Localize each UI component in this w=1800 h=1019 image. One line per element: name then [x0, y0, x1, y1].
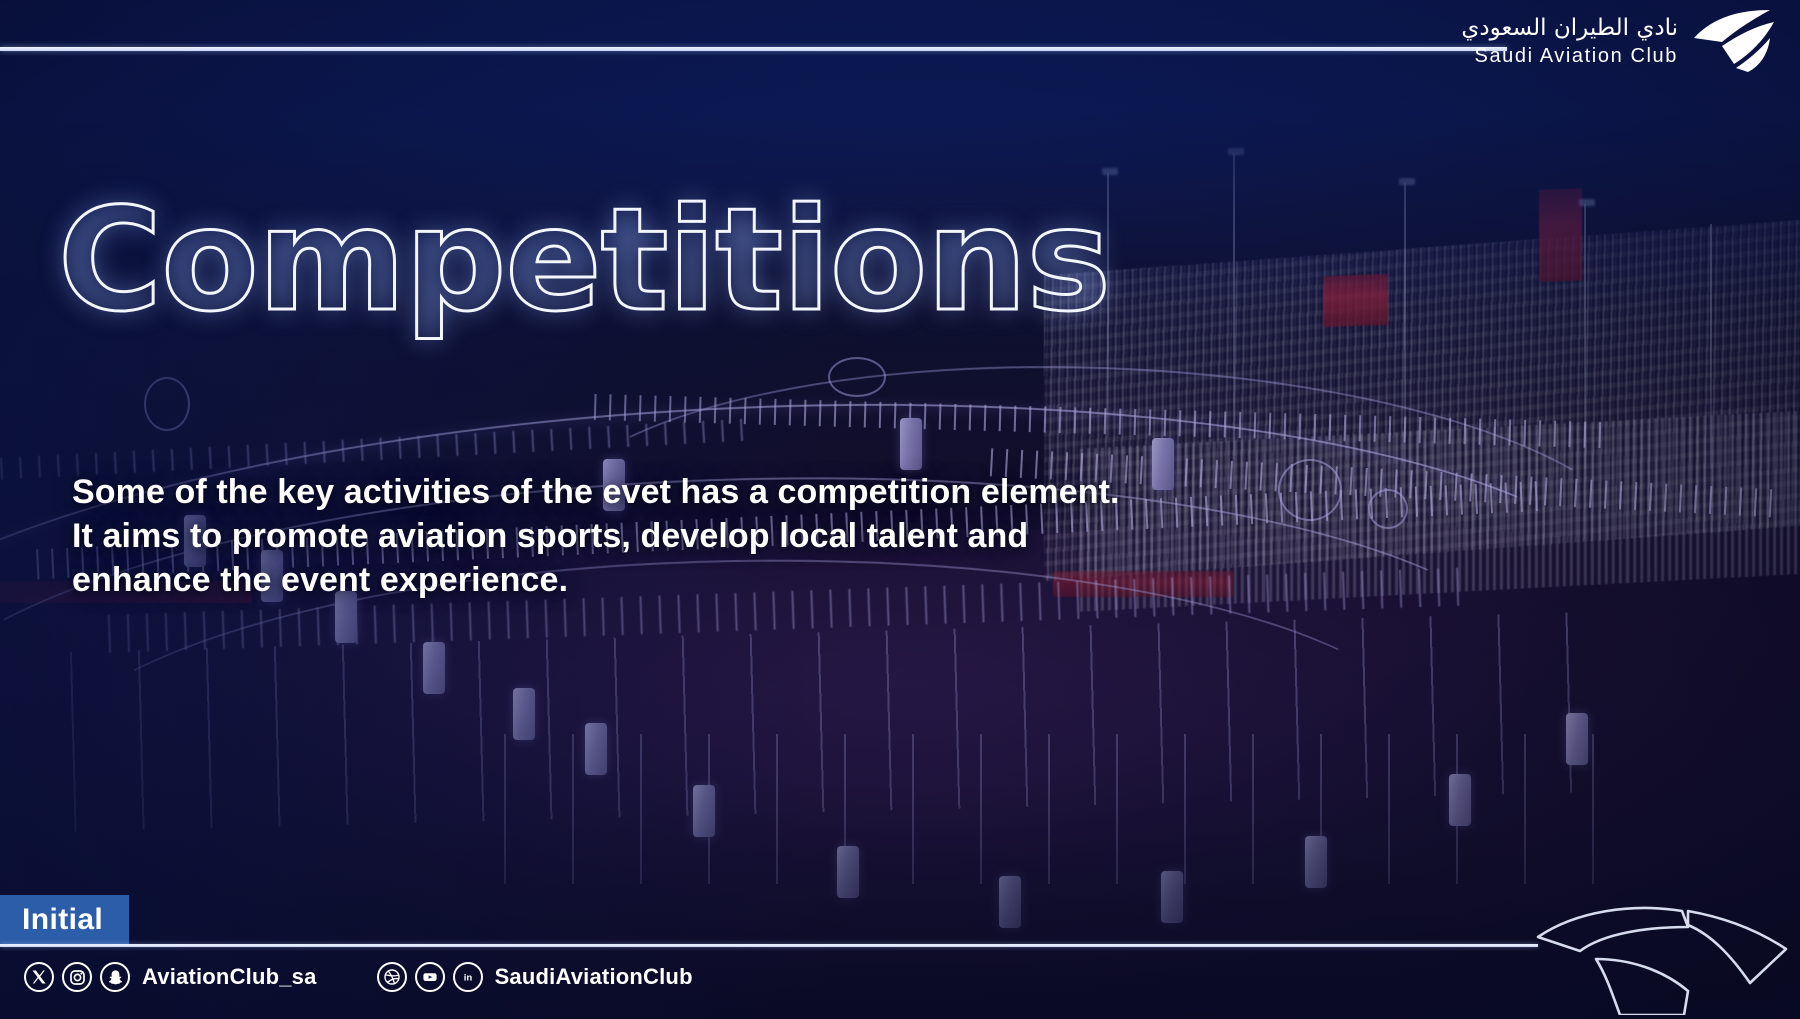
social-group-primary: AviationClub_sa — [24, 962, 377, 992]
snapchat-icon[interactable] — [100, 962, 130, 992]
brand-lockup: نادي الطيران السعودي Saudi Aviation Club — [1461, 8, 1776, 74]
brand-name-english: Saudi Aviation Club — [1461, 46, 1678, 66]
status-badge: Initial — [0, 895, 129, 945]
svg-text:in: in — [463, 973, 472, 984]
instagram-icon[interactable] — [62, 962, 92, 992]
falcon-wing-logo-icon — [1692, 8, 1776, 74]
linkedin-icon[interactable]: in — [453, 962, 483, 992]
brand-text-block: نادي الطيران السعودي Saudi Aviation Club — [1461, 17, 1678, 66]
x-twitter-icon[interactable] — [24, 962, 54, 992]
youtube-icon[interactable] — [415, 962, 445, 992]
body-description: Some of the key activities of the evet h… — [72, 470, 1192, 603]
tiktok-icon[interactable] — [377, 962, 407, 992]
falcon-wing-outline-icon — [1536, 897, 1792, 1015]
page-title: Competitions — [58, 186, 1110, 335]
social-handle-primary[interactable]: AviationClub_sa — [142, 964, 317, 990]
footer-divider-rule — [0, 944, 1538, 947]
presentation-slide: نادي الطيران السعودي Saudi Aviation Club… — [0, 0, 1800, 1019]
social-handle-secondary[interactable]: SaudiAviationClub — [495, 964, 693, 990]
social-group-secondary: in SaudiAviationClub — [377, 962, 693, 992]
brand-name-arabic: نادي الطيران السعودي — [1461, 17, 1678, 40]
header-divider-rule — [0, 47, 1507, 51]
social-links-row: AviationClub_sa in — [24, 962, 693, 992]
